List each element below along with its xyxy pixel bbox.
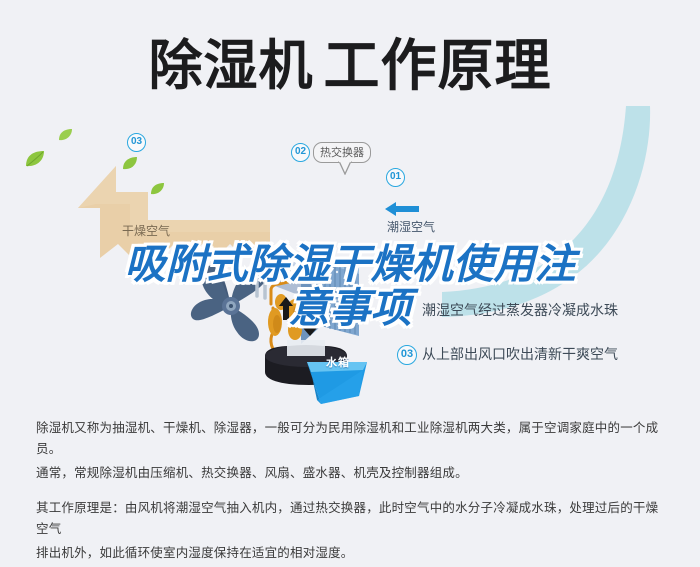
leaf-icon xyxy=(122,156,138,171)
badge-02: 02 xyxy=(291,143,310,162)
poster-root: 除湿机工作原理 xyxy=(0,0,700,566)
caption-condensation: 潮湿空气经过蒸发器冷凝成水珠 xyxy=(422,300,618,320)
leaf-icon xyxy=(24,149,46,169)
label-step-02: 02热交换器 xyxy=(291,142,371,163)
leaf-icon xyxy=(58,128,73,142)
label-water-tank: 水箱 xyxy=(326,354,350,370)
label-step-03-badge: 03 xyxy=(127,133,146,152)
caption-outlet-air: 03从上部出风口吹出清新干爽空气 xyxy=(397,344,618,365)
paragraph-1-line-2: 通常，常规除湿机由压缩机、热交换器、风扇、盛水器、机壳及控制器组成。 xyxy=(36,463,666,484)
page-title: 除湿机工作原理 xyxy=(0,30,700,102)
label-step-01-badge: 01 xyxy=(386,168,405,187)
page-title-main: 除湿机 xyxy=(149,36,314,96)
label-dry-air: 干燥空气 xyxy=(122,222,170,239)
label-heat-exchanger: 热交换器 xyxy=(313,142,371,163)
paragraph-2-line-2: 排出机外，如此循环使室内湿度保持在适宜的相对湿度。 xyxy=(36,543,666,564)
leaf-icon xyxy=(150,182,165,196)
paragraph-1-line-1: 除湿机又称为抽湿机、干燥机、除湿器，一般可分为民用除湿机和工业除湿机两大类，属于… xyxy=(36,418,666,460)
caption-outlet-air-text: 从上部出风口吹出清新干爽空气 xyxy=(422,346,618,362)
dry-air-arrow xyxy=(70,162,270,262)
paragraph-gap xyxy=(36,487,666,498)
label-humid-air: 潮湿空气 xyxy=(387,218,435,235)
intake-arrow-icon xyxy=(385,201,419,217)
badge-03: 03 xyxy=(127,133,146,152)
dehumidifier-unit xyxy=(247,244,387,404)
caption-condensation-text: 潮湿空气经过蒸发器冷凝成水珠 xyxy=(422,302,618,318)
badge-03: 03 xyxy=(397,345,417,365)
page-title-sub: 工作原理 xyxy=(324,34,552,97)
paragraph-2-line-1: 其工作原理是：由风机将潮湿空气抽入机内，通过热交换器，此时空气中的水分子冷凝成水… xyxy=(36,498,666,540)
badge-01: 01 xyxy=(386,168,405,187)
humid-airflow-swoosh xyxy=(398,104,658,319)
body-copy: 除湿机又称为抽湿机、干燥机、除湿器，一般可分为民用除湿机和工业除湿机两大类，属于… xyxy=(36,418,666,567)
bubble-tail-icon xyxy=(337,161,353,175)
